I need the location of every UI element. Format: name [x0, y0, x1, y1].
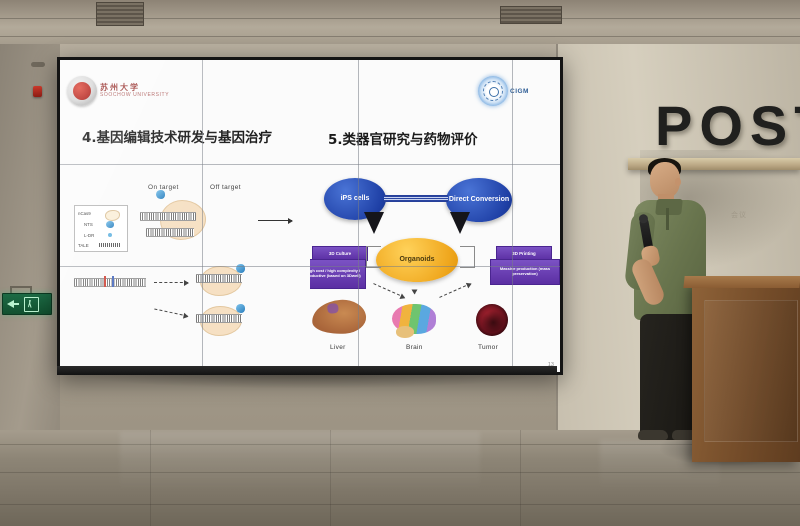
flow-line — [439, 283, 470, 298]
down-arrow-icon — [364, 212, 384, 234]
slide-panel-left: 苏州大学 SOOCHOW UNIVERSITY 4.基因编辑技术研发与基因治疗 … — [60, 60, 310, 372]
brain-image — [392, 304, 436, 334]
legend-label: L-DR — [84, 233, 94, 238]
panel-seam — [60, 266, 560, 267]
legend-label: NTS — [84, 222, 93, 227]
node-label: Organoids — [399, 256, 434, 264]
flow-line — [373, 283, 404, 298]
institute-logo-icon — [478, 76, 508, 106]
organ-label-liver: Liver — [330, 344, 346, 351]
fire-alarm-icon — [33, 86, 42, 97]
dna-strand — [74, 278, 146, 287]
panel-seam — [358, 60, 359, 372]
node-connector — [384, 195, 448, 202]
university-name-cn: 苏州大学 — [100, 82, 162, 91]
node-label: iPS cells — [341, 195, 370, 203]
room-scene: POST 会议 苏州大学 SOOCHOW UNIVERSITY 4.基因编辑技术… — [0, 0, 800, 526]
legend-item: nCas9 — [78, 211, 91, 216]
box-label: High cost / high complexity / productive… — [310, 269, 364, 278]
organ-label-brain: Brain — [406, 344, 423, 351]
legend-item: TALE — [78, 243, 89, 248]
nickase-marker-icon — [156, 190, 165, 199]
flow-line — [415, 292, 416, 294]
slide-panel-right: CIGM 5.类器官研究与药物评价 iPS cells Direct Conve… — [310, 60, 560, 372]
legend-item: L-DR — [84, 233, 94, 238]
panel-seam — [202, 60, 203, 372]
panel-seam — [60, 164, 560, 165]
legend-item: NTS — [84, 222, 93, 227]
smoke-detector-icon — [31, 62, 45, 67]
dna-bar-icon — [99, 243, 121, 247]
down-arrow-icon — [450, 212, 470, 234]
blob-icon — [105, 210, 120, 221]
nickase-marker-icon — [236, 304, 245, 313]
node-organoids: Organoids — [376, 238, 458, 282]
slide-title-right: 5.类器官研究与药物评价 — [328, 132, 543, 148]
bracket-right — [460, 246, 475, 268]
collar — [655, 199, 683, 215]
trousers — [640, 314, 700, 440]
off-target-label: Off target — [210, 184, 241, 191]
university-seal-icon — [67, 76, 97, 106]
tumor-image — [476, 304, 508, 336]
running-man-icon — [24, 297, 39, 312]
panel-seam — [512, 60, 513, 372]
podium-top-surface — [683, 276, 800, 288]
video-wall-display[interactable]: 苏州大学 SOOCHOW UNIVERSITY 4.基因编辑技术研发与基因治疗 … — [57, 57, 563, 375]
flow-arrow-icon — [258, 220, 292, 221]
box-3d-printing-body: Massive production (mass preservation) — [490, 259, 560, 285]
university-name-en: SOOCHOW UNIVERSITY — [100, 92, 170, 98]
emergency-exit-sign — [2, 293, 52, 315]
dna-strand — [140, 212, 196, 221]
shirt-placket — [666, 208, 669, 230]
node-label: Direct Conversion — [449, 196, 509, 204]
organ-label-tumor: Tumor — [478, 344, 498, 351]
ceiling-vent-icon — [96, 2, 144, 26]
ear — [675, 178, 681, 186]
dna-strand — [146, 228, 194, 237]
podium-front-panel — [704, 300, 798, 442]
box-label: 3D Culture — [329, 251, 351, 256]
legend-label: TALE — [78, 243, 89, 248]
mutation-marker — [112, 276, 114, 287]
legend-label: nCas9 — [78, 211, 91, 216]
box-label: Massive production (mass preservation) — [492, 267, 558, 276]
box-label: 3D Printing — [512, 251, 535, 256]
dashed-arrow-icon — [154, 282, 188, 283]
small-dot-icon — [108, 233, 112, 237]
slide-title-left: 4.基因编辑技术研发与基因治疗 — [82, 130, 290, 146]
post-sign: POST — [655, 98, 800, 154]
shoe — [638, 430, 668, 440]
exit-arrow-icon — [7, 300, 14, 308]
ceiling-vent-icon — [500, 6, 562, 24]
bracket-left — [366, 246, 381, 268]
mutation-marker — [104, 276, 106, 287]
blue-drop-icon — [106, 221, 114, 228]
dashed-arrow-icon — [154, 308, 187, 316]
legend-box: nCas9 NTS L-DR TALE — [74, 205, 128, 252]
video-wall-base — [57, 366, 557, 375]
